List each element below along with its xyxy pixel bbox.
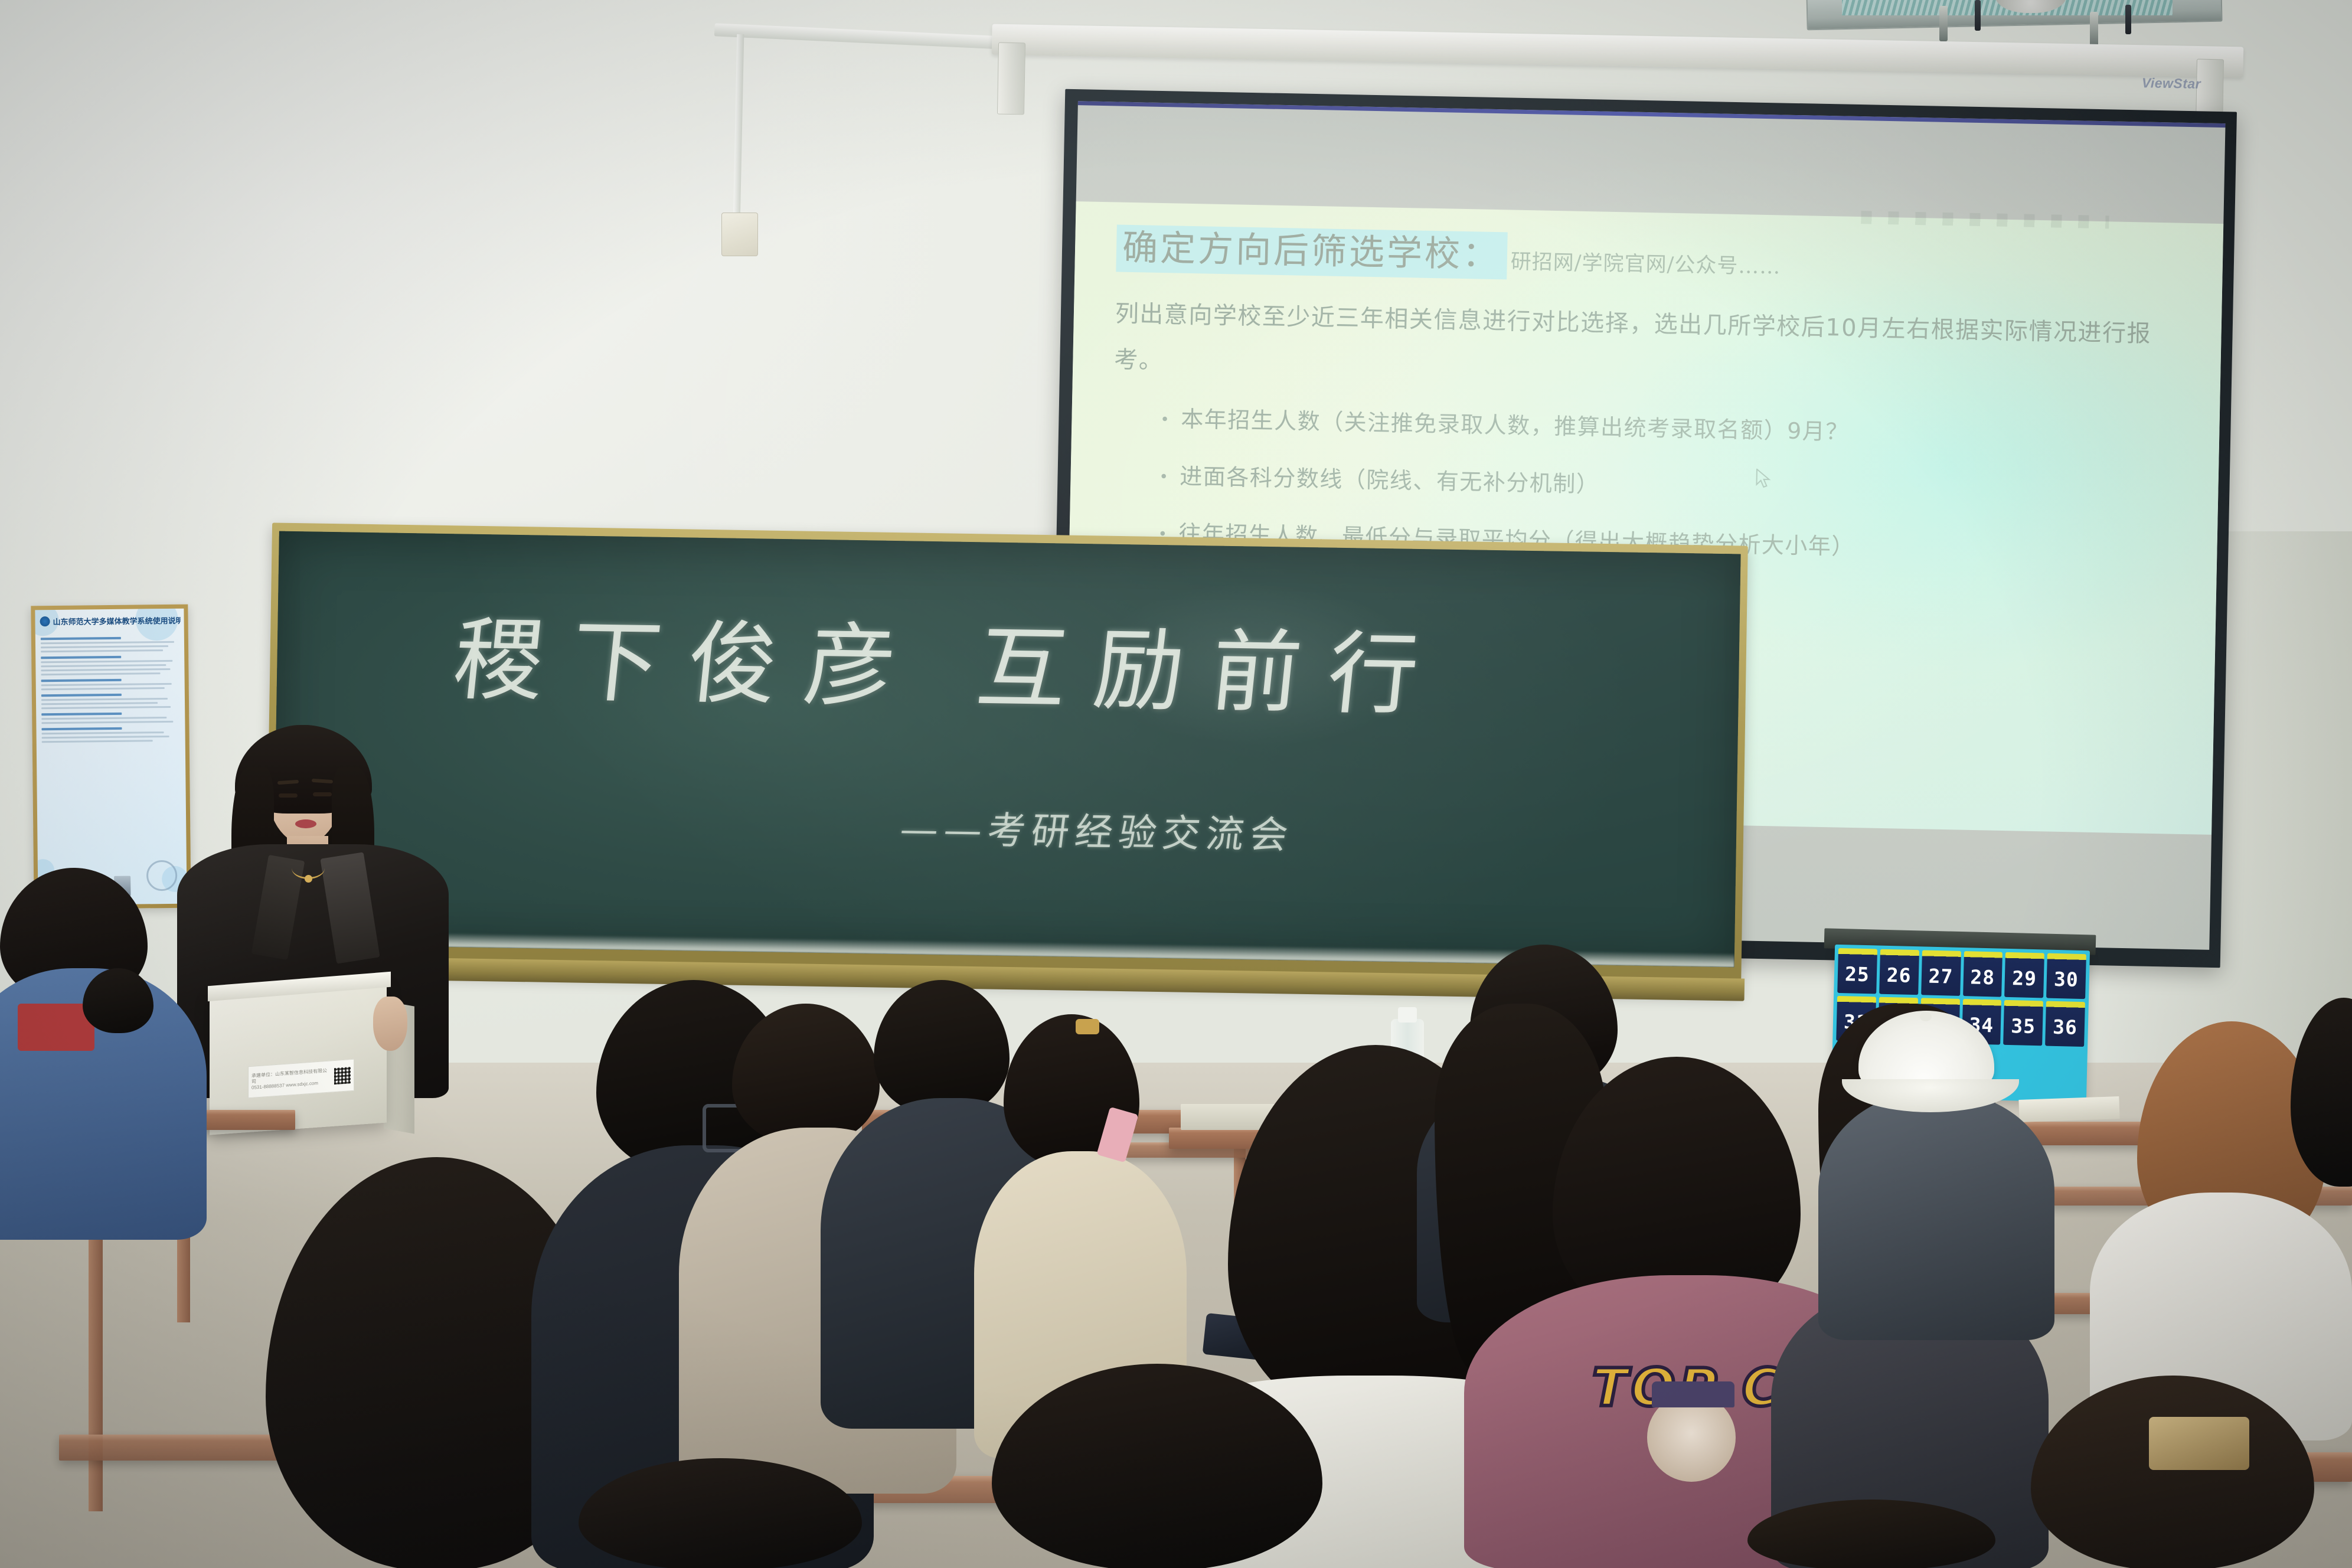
mouse-cursor-icon	[1755, 469, 1771, 489]
pocket-slot: 26	[1879, 949, 1919, 995]
pocket-slot: 25	[1837, 948, 1877, 994]
ceiling-bolt	[2090, 12, 2098, 47]
hair-clip	[2149, 1417, 2249, 1470]
presenter-mouth	[295, 819, 316, 828]
qr-code-icon	[334, 1067, 351, 1084]
wall-poster: 山东师范大学多媒体教学系统使用说明	[31, 605, 191, 910]
blackboard-headline: 稷下俊彦 互励前行	[449, 610, 1581, 727]
water-bottle-cap	[1398, 1007, 1417, 1023]
taskbar-ghost-top	[1861, 211, 2109, 228]
pocket-slot: 28	[1963, 951, 2003, 997]
classroom-photo: ViewStar 确定方向后筛选学校： 研招网/学院官网/公众号…… 列出意向学…	[0, 0, 2352, 1568]
slide-title-suffix: 研招网/学院官网/公众号……	[1510, 245, 1781, 285]
slide-title-row: 确定方向后筛选学校： 研招网/学院官网/公众号……	[1116, 222, 2179, 292]
wall-poster-inner: 山东师范大学多媒体教学系统使用说明	[35, 609, 187, 906]
pocket-slot: 30	[2046, 953, 2086, 999]
roller-bracket-left	[997, 43, 1025, 115]
wall-poster-title: 山东师范大学多媒体教学系统使用说明	[40, 615, 180, 629]
audience-body	[1818, 1092, 2054, 1340]
slide-title: 确定方向后筛选学校：	[1116, 224, 1507, 279]
ceiling-bolt	[1939, 6, 1948, 41]
presenter-eye	[313, 792, 332, 796]
slide-paragraph: 列出意向学校至少近三年相关信息进行对比选择，选出几所学校后10月左右根据实际情况…	[1114, 290, 2155, 403]
papers	[2018, 1096, 2119, 1122]
presenter-eye	[279, 793, 298, 798]
ceiling-bolt	[1975, 0, 1981, 31]
pocket-slot: 36	[2045, 1001, 2085, 1047]
pocket-slot: 27	[1921, 950, 1961, 996]
presenter-hand	[373, 997, 407, 1051]
wall-poster-body	[41, 632, 181, 745]
wall-junction-box	[721, 213, 758, 256]
cap-button	[1920, 1012, 1932, 1021]
hoodie-cat-hat	[1652, 1381, 1734, 1407]
projector-brand-label: ViewStar	[2118, 73, 2225, 93]
pocket-slot: 29	[2004, 952, 2044, 998]
pocket-slot: 35	[2003, 1000, 2043, 1046]
blackboard-subline: ——考研经验交流会	[897, 806, 1611, 864]
official-stamp-icon	[146, 860, 178, 891]
presenter-pendant	[305, 875, 312, 883]
blackboard: 稷下俊彦 互励前行 ——考研经验交流会	[273, 531, 1741, 968]
ceiling-bolt	[2125, 5, 2131, 34]
blackboard-frame: 稷下俊彦 互励前行 ——考研经验交流会	[265, 522, 1748, 994]
hair-clip	[1076, 1019, 1099, 1034]
